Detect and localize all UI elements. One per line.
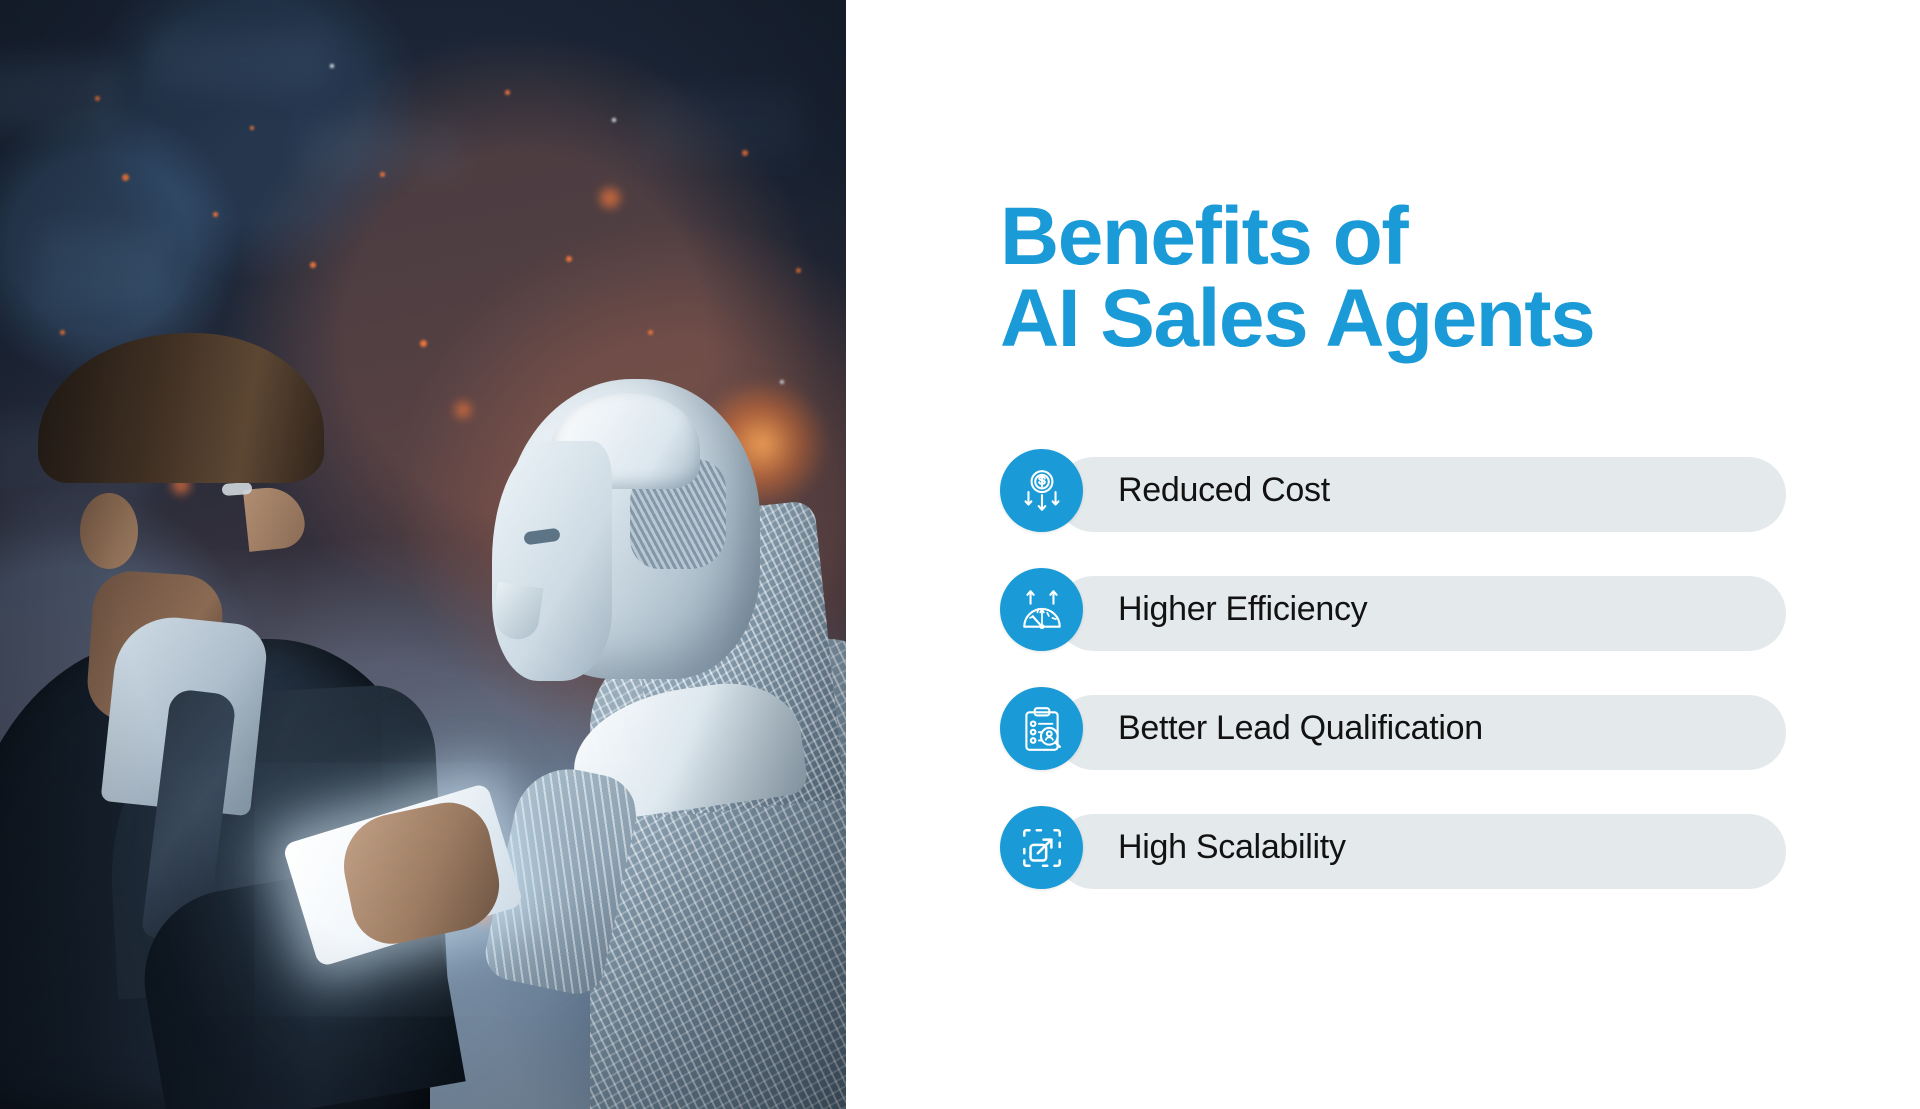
list-item-label: Higher Efficiency [1118, 568, 1367, 651]
image-vignette [0, 0, 846, 1109]
list-item[interactable]: Reduced Cost [1000, 449, 1840, 532]
content-panel: Benefits of AI Sales Agents [846, 0, 1920, 1109]
benefits-list: Reduced Cost [1000, 449, 1840, 925]
list-item-label: Better Lead Qualification [1118, 687, 1483, 770]
benefit-icon-badge [1000, 449, 1083, 532]
list-item[interactable]: Higher Efficiency [1000, 568, 1840, 651]
page-title: Benefits of AI Sales Agents [1000, 196, 1820, 360]
clipboard-search-icon [1017, 704, 1067, 754]
cost-down-icon [1017, 466, 1067, 516]
benefit-icon-badge [1000, 806, 1083, 889]
list-item[interactable]: High Scalability [1000, 806, 1840, 889]
slide: Benefits of AI Sales Agents [0, 0, 1920, 1109]
list-item-label: Reduced Cost [1118, 449, 1330, 532]
scale-expand-icon [1017, 823, 1067, 873]
benefit-icon-badge [1000, 687, 1083, 770]
benefit-icon-badge [1000, 568, 1083, 651]
list-item[interactable]: Better Lead Qualification [1000, 687, 1840, 770]
list-item-label: High Scalability [1118, 806, 1346, 889]
gauge-up-icon [1017, 585, 1067, 635]
hero-image [0, 0, 846, 1109]
